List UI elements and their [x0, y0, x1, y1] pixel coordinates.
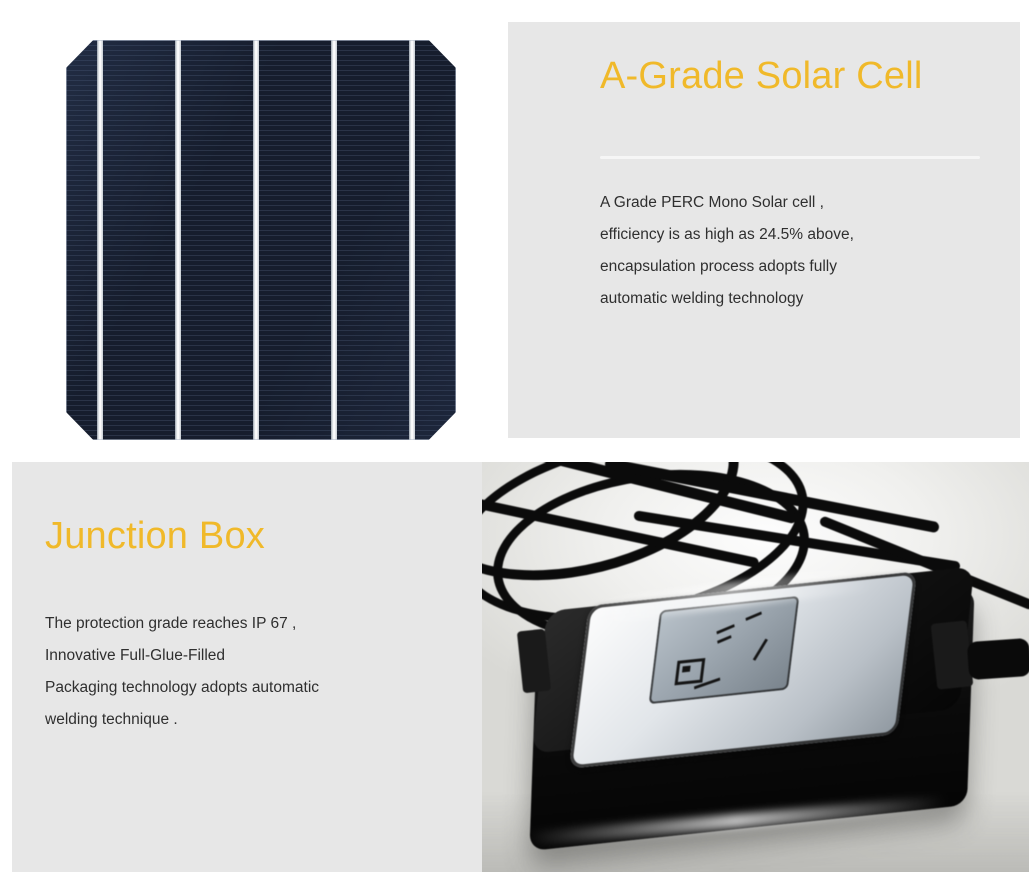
solar-cell-text-panel: A-Grade Solar Cell A Grade PERC Mono Sol… [508, 22, 1020, 438]
solar-cell-description-line-4: automatic welding technology [600, 283, 980, 315]
solar-cell-description-line-1: A Grade PERC Mono Solar cell , [600, 187, 980, 219]
junction-box-cable-gland [967, 638, 1029, 680]
solar-cell-wafer [66, 40, 456, 440]
class-ii-symbol-inner-icon [682, 666, 691, 673]
junction-box-description-line-4: welding technique . [45, 704, 445, 736]
warning-triangle-icon [753, 639, 768, 661]
solar-cell-description-line-3: encapsulation process adopts fully [600, 251, 980, 283]
solar-cell-section: A-Grade Solar Cell A Grade PERC Mono Sol… [0, 0, 1029, 455]
label-mark-4 [717, 635, 731, 644]
solar-cell-sheen [66, 40, 456, 440]
junction-box-description-line-2: Innovative Full-Glue-Filled [45, 640, 445, 672]
junction-box-text-panel: Junction Box The protection grade reache… [12, 462, 482, 872]
label-mark-3 [716, 624, 734, 634]
junction-box-description-line-3: Packaging technology adopts automatic [45, 672, 445, 704]
label-mark-5 [746, 611, 762, 620]
junction-box-description: The protection grade reaches IP 67 , Inn… [45, 608, 445, 736]
solar-cell-busbar-3 [253, 40, 259, 440]
solar-cell-image [0, 0, 500, 455]
junction-box-heading: Junction Box [45, 514, 265, 558]
solar-cell-busbar-4 [331, 40, 337, 440]
junction-box-image [482, 462, 1029, 872]
solar-cell-busbar-1 [97, 40, 103, 440]
junction-box-section: Junction Box The protection grade reache… [12, 462, 1029, 872]
heading-divider [600, 156, 980, 159]
product-feature-graphic: A-Grade Solar Cell A Grade PERC Mono Sol… [0, 0, 1029, 877]
solar-cell-heading: A-Grade Solar Cell [600, 54, 940, 99]
junction-box-description-line-1: The protection grade reaches IP 67 , [45, 608, 445, 640]
solar-cell-description: A Grade PERC Mono Solar cell , efficienc… [600, 187, 980, 315]
solar-cell-busbar-5 [409, 40, 415, 440]
solar-cell-busbar-2 [175, 40, 181, 440]
solar-cell-description-line-2: efficiency is as high as 24.5% above, [600, 219, 980, 251]
